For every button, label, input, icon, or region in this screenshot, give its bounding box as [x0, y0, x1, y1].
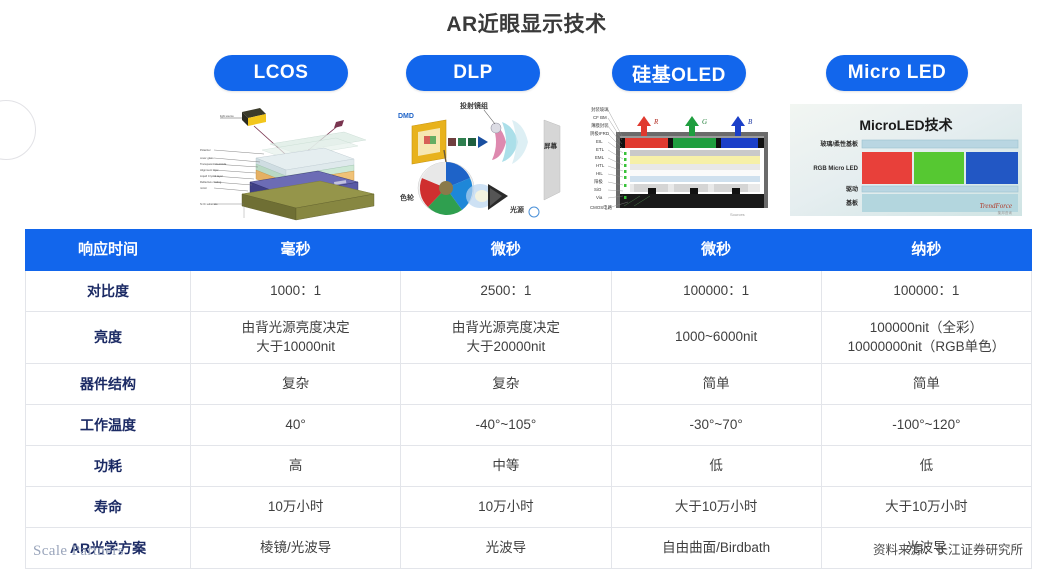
technology-pill-row: LCOS DLP 硅基OLED Micro LED [26, 55, 1032, 93]
microled-structure-panel: MicroLED技术 玻璃/柔性基板 RGB Micro LED 驱动 基板 T… [786, 96, 1026, 224]
cell-microled: 大于10万小时 [821, 487, 1031, 528]
cell-dlp: 10万小时 [401, 487, 611, 528]
svg-text:EIL: EIL [596, 139, 603, 144]
tech-pill-microled[interactable]: Micro LED [826, 55, 968, 91]
table-row: 对比度 1000：1 2500：1 100000：1 100000：1 [26, 271, 1032, 312]
svg-text:light source: light source [220, 114, 234, 118]
cell-lcos: 由背光源亮度决定大于10000nit [191, 312, 401, 364]
page-title: AR近眼显示技术 [0, 8, 1053, 38]
dlp-optical-path-diagram: DMD 投射镜组 屏幕 [384, 96, 572, 224]
cell-dlp: -40°~105° [401, 405, 611, 446]
cell-dlp: 由背光源亮度决定大于20000nit [401, 312, 611, 364]
source-note: 资料来源：长江证券研究所 [873, 539, 1023, 558]
cell-lcos: 10万小时 [191, 487, 401, 528]
cell-microled: 100000nit（全彩）10000000nit（RGB单色） [821, 312, 1031, 364]
svg-text:屏幕: 屏幕 [543, 141, 558, 150]
row-label: 功耗 [26, 446, 191, 487]
header-cell-dlp: 微秒 [401, 230, 611, 271]
table-body: 响应时间 毫秒 微秒 微秒 纳秒 对比度 1000：1 2500：1 10000… [26, 230, 1032, 569]
table-header-row: 响应时间 毫秒 微秒 微秒 纳秒 [26, 230, 1032, 271]
svg-text:TrendForce: TrendForce [979, 202, 1012, 210]
svg-text:SiO: SiO [594, 187, 602, 192]
svg-text:光源: 光源 [509, 205, 524, 214]
row-label: 亮度 [26, 312, 191, 364]
cell-lcos: 高 [191, 446, 401, 487]
lcos-layer-stack-diagram: Polarizer cover glass Transparent electr… [198, 96, 382, 224]
row-label: 寿命 [26, 487, 191, 528]
cell-si-oled: 100000：1 [611, 271, 821, 312]
svg-text:薄膜封装: 薄膜封装 [591, 122, 609, 129]
svg-text:MicroLED技术: MicroLED技术 [859, 117, 952, 133]
table-row: 工作温度 40° -40°~105° -30°~70° -100°~120° [26, 405, 1032, 446]
tech-pill-lcos[interactable]: LCOS [214, 55, 348, 91]
svg-text:玻璃/柔性基板: 玻璃/柔性基板 [820, 140, 859, 148]
cell-microled: 100000：1 [821, 271, 1031, 312]
svg-text:cover glass: cover glass [200, 156, 214, 160]
cell-lcos: 40° [191, 405, 401, 446]
svg-text:ETL: ETL [596, 147, 605, 152]
cell-lcos: 1000：1 [191, 271, 401, 312]
header-cell-si-oled: 微秒 [611, 230, 821, 271]
svg-text:Transparent electrode: Transparent electrode [200, 162, 227, 166]
svg-text:B: B [748, 118, 753, 126]
svg-text:Reflective coating: Reflective coating [200, 180, 222, 184]
cell-lcos: 复杂 [191, 364, 401, 405]
svg-text:Polarizer: Polarizer [200, 148, 211, 152]
svg-text:驱动: 驱动 [846, 185, 858, 193]
cell-microled: 低 [821, 446, 1031, 487]
brand-watermark: Scale Partners [33, 543, 124, 560]
cell-microled: -100°~120° [821, 405, 1031, 446]
silicon-oled-cross-section-diagram: R G B [590, 96, 776, 224]
header-cell-lcos: 毫秒 [191, 230, 401, 271]
tech-pill-si-oled[interactable]: 硅基OLED [612, 55, 746, 91]
cell-si-oled: 大于10万小时 [611, 487, 821, 528]
cell-si-oled: 简单 [611, 364, 821, 405]
svg-text:Alignment layer: Alignment layer [200, 168, 219, 172]
svg-text:R: R [653, 118, 659, 126]
cell-dlp: 中等 [401, 446, 611, 487]
svg-text:Liquid Crystal layer: Liquid Crystal layer [200, 174, 223, 178]
svg-text:mirror: mirror [200, 186, 207, 190]
svg-text:G: G [702, 118, 707, 126]
cell-si-oled: 自由曲面/Birdbath [611, 528, 821, 569]
cell-si-oled: -30°~70° [611, 405, 821, 446]
svg-text:封装玻璃: 封装玻璃 [591, 106, 609, 113]
table-row: 寿命 10万小时 10万小时 大于10万小时 大于10万小时 [26, 487, 1032, 528]
svg-text:Sources: Sources [730, 212, 745, 217]
cell-dlp: 光波导 [401, 528, 611, 569]
row-label: 器件结构 [26, 364, 191, 405]
header-row-label: 响应时间 [26, 230, 191, 271]
cell-dlp: 2500：1 [401, 271, 611, 312]
comparison-table: 响应时间 毫秒 微秒 微秒 纳秒 对比度 1000：1 2500：1 10000… [25, 229, 1032, 569]
figure-row: Polarizer cover glass Transparent electr… [0, 96, 1053, 224]
row-label: 对比度 [26, 271, 191, 312]
svg-text:投射镜组: 投射镜组 [460, 101, 488, 110]
svg-text:DMD: DMD [398, 113, 414, 120]
svg-text:色轮: 色轮 [400, 193, 414, 202]
header-cell-microled: 纳秒 [821, 230, 1031, 271]
table-row: 亮度 由背光源亮度决定大于10000nit 由背光源亮度决定大于20000nit… [26, 312, 1032, 364]
cell-lcos: 棱镜/光波导 [191, 528, 401, 569]
svg-text:CMOS电路: CMOS电路 [590, 204, 613, 211]
svg-text:Via: Via [596, 195, 603, 200]
svg-text:HIL: HIL [596, 171, 603, 176]
svg-text:阴极IFRD: 阴极IFRD [590, 130, 609, 137]
svg-text:CF BM: CF BM [593, 115, 607, 120]
table-row: 功耗 高 中等 低 低 [26, 446, 1032, 487]
svg-text:阳极: 阳极 [594, 178, 603, 185]
svg-text:基板: 基板 [845, 199, 859, 207]
table-row: 器件结构 复杂 复杂 简单 简单 [26, 364, 1032, 405]
svg-text:集邦咨询: 集邦咨询 [998, 210, 1013, 215]
svg-text:HTL: HTL [596, 163, 605, 168]
cell-microled: 简单 [821, 364, 1031, 405]
svg-text:RGB Micro LED: RGB Micro LED [813, 166, 858, 172]
cell-si-oled: 1000~6000nit [611, 312, 821, 364]
cell-dlp: 复杂 [401, 364, 611, 405]
tech-pill-dlp[interactable]: DLP [406, 55, 540, 91]
svg-text:EML: EML [595, 155, 605, 160]
cell-si-oled: 低 [611, 446, 821, 487]
row-label: 工作温度 [26, 405, 191, 446]
svg-text:Si IC substrate: Si IC substrate [200, 202, 218, 206]
